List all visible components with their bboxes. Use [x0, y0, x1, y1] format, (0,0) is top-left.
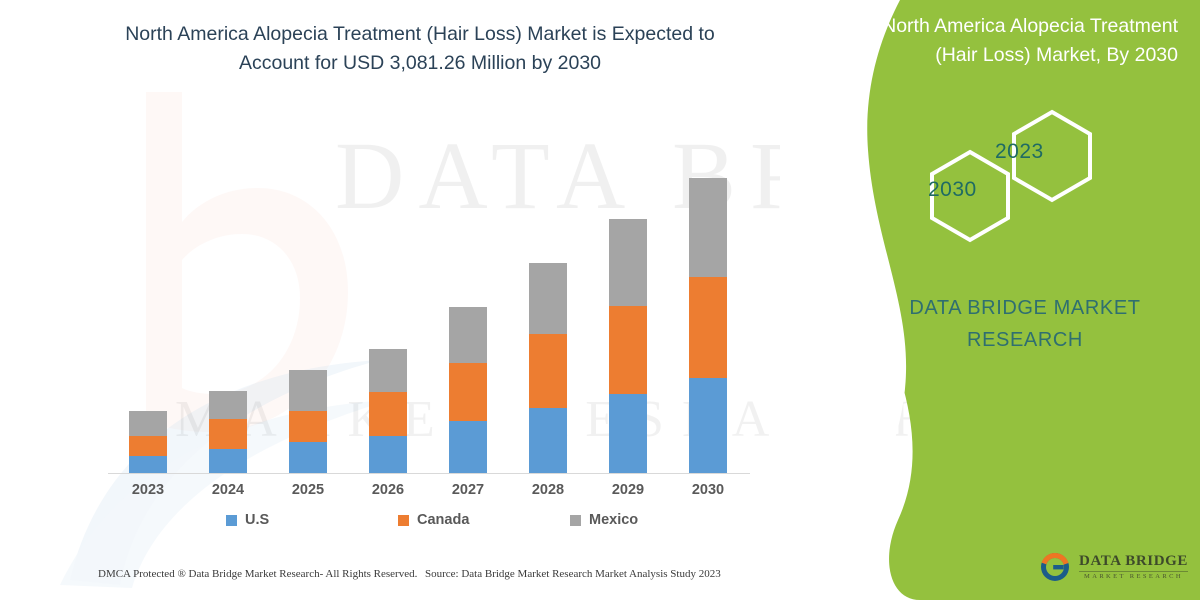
chart-plot-area	[108, 170, 748, 474]
bar-segment-us	[289, 442, 327, 474]
legend-item-canada[interactable]: Canada	[398, 512, 469, 528]
bar-segment-canada	[609, 306, 647, 394]
bar-group	[689, 178, 727, 474]
brand-divider	[1079, 571, 1188, 572]
panel-brand-line1: DATA BRIDGE MARKET	[909, 297, 1140, 319]
bar-group	[289, 370, 327, 474]
x-axis-label: 2027	[433, 482, 503, 498]
legend-label: Canada	[417, 512, 469, 528]
bar-segment-us	[609, 394, 647, 474]
bar-segment-canada	[689, 277, 727, 378]
bar-segment-mexico	[689, 178, 727, 277]
bar-segment-canada	[289, 411, 327, 442]
x-axis-label: 2023	[113, 482, 183, 498]
green-side-panel: North America Alopecia Treatment (Hair L…	[780, 0, 1200, 600]
x-axis-label: 2028	[513, 482, 583, 498]
bar-segment-mexico	[129, 411, 167, 436]
data-bridge-logo: DATA BRIDGE MARKET RESEARCH	[1040, 552, 1188, 582]
bar-group	[449, 307, 487, 474]
brand-tagline: MARKET RESEARCH	[1079, 574, 1188, 581]
legend-swatch-icon	[570, 515, 581, 526]
bar-segment-mexico	[529, 263, 567, 334]
bar-segment-us	[209, 449, 247, 474]
bar-segment-us	[689, 378, 727, 474]
bar-segment-mexico	[449, 307, 487, 363]
hexagon-2030-label: 2030	[928, 178, 977, 202]
bar-segment-us	[529, 408, 567, 474]
bar-segment-mexico	[289, 370, 327, 411]
bar-group	[529, 263, 567, 474]
bar-segment-us	[369, 436, 407, 474]
legend-item-us[interactable]: U.S	[226, 512, 269, 528]
chart-legend: U.SCanadaMexico	[108, 512, 750, 536]
footer-source: Source: Data Bridge Market Research Mark…	[425, 568, 721, 580]
bar-segment-mexico	[369, 349, 407, 392]
bar-segment-canada	[209, 419, 247, 449]
x-axis-label: 2026	[353, 482, 423, 498]
bar-group	[609, 219, 647, 474]
stacked-bar-chart: 20232024202520262027202820292030 U.SCana…	[0, 0, 800, 600]
hexagon-2023-label: 2023	[995, 140, 1044, 164]
brand-wordmark: DATA BRIDGE MARKET RESEARCH	[1079, 554, 1188, 581]
bar-group	[129, 411, 167, 474]
legend-label: Mexico	[589, 512, 638, 528]
data-bridge-mark-icon	[1040, 552, 1070, 582]
footer-copyright: DMCA Protected ® Data Bridge Market Rese…	[98, 568, 417, 580]
x-axis-label: 2025	[273, 482, 343, 498]
brand-name: DATA BRIDGE	[1079, 554, 1188, 569]
bar-segment-mexico	[209, 391, 247, 419]
bar-segment-mexico	[609, 219, 647, 306]
legend-item-mexico[interactable]: Mexico	[570, 512, 638, 528]
bar-group	[209, 391, 247, 474]
bar-segment-canada	[449, 363, 487, 421]
x-axis-label: 2030	[673, 482, 743, 498]
infographic-canvas: DATA BRIDGE MARKET RESEARCH North Americ…	[0, 0, 1200, 600]
panel-brand-text: DATA BRIDGE MARKET RESEARCH	[780, 292, 1200, 356]
bar-segment-us	[129, 456, 167, 474]
legend-label: U.S	[245, 512, 269, 528]
panel-brand-line2: RESEARCH	[967, 329, 1083, 351]
legend-swatch-icon	[226, 515, 237, 526]
bar-segment-canada	[529, 334, 567, 408]
bar-segment-us	[449, 421, 487, 474]
bar-segment-canada	[369, 392, 407, 436]
x-axis-label: 2024	[193, 482, 263, 498]
legend-swatch-icon	[398, 515, 409, 526]
bar-segment-canada	[129, 436, 167, 456]
x-axis-label: 2029	[593, 482, 663, 498]
footer: DMCA Protected ® Data Bridge Market Rese…	[0, 556, 800, 600]
bar-group	[369, 349, 407, 474]
chart-baseline	[108, 473, 750, 474]
chart-x-axis-labels: 20232024202520262027202820292030	[108, 482, 750, 506]
